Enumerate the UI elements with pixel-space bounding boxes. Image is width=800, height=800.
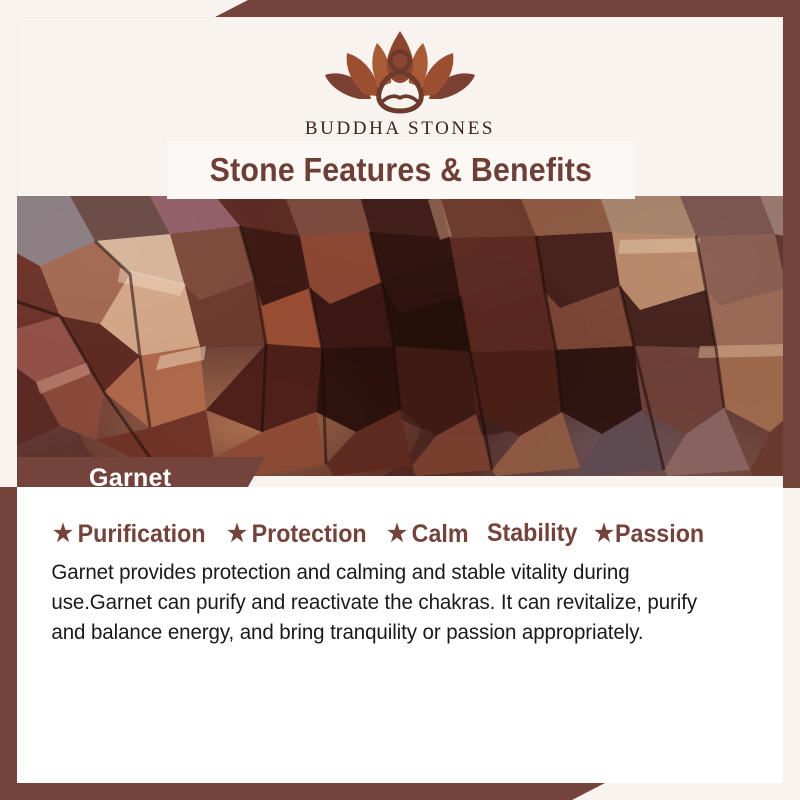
benefit-label: Protection (252, 520, 367, 549)
frame-band-top (215, 0, 800, 17)
stone-description: Garnet provides protection and calming a… (17, 549, 749, 647)
benefit-item: ★Purification (53, 520, 206, 549)
stone-info-card: BUDDHA STONES (0, 0, 800, 800)
star-icon: ★ (594, 522, 614, 546)
benefit-item: ★Protection (227, 520, 367, 549)
star-icon: ★ (53, 522, 73, 546)
benefit-label: Passion (615, 520, 704, 549)
star-icon: ★ (227, 522, 247, 546)
benefit-item: Stability (487, 519, 577, 548)
card-panel: BUDDHA STONES (17, 17, 783, 783)
benefits-row: ★Purification★Protection★CalmStability★P… (17, 487, 783, 549)
benefit-label: Purification (78, 520, 206, 549)
frame-band-right (783, 0, 800, 488)
title-banner: Stone Features & Benefits (167, 141, 635, 199)
stone-photo (17, 196, 783, 476)
brand-logo-block: BUDDHA STONES (17, 17, 783, 149)
frame-band-left (0, 487, 17, 783)
benefit-item: ★Passion (594, 520, 704, 549)
frame-band-bottom (0, 783, 605, 800)
benefit-item: ★Calm (387, 520, 469, 549)
benefit-label: Stability (487, 519, 577, 548)
brand-wordmark: BUDDHA STONES (305, 118, 495, 140)
lotus-meditation-figure-icon (315, 25, 485, 117)
page-title: Stone Features & Benefits (210, 151, 593, 189)
content-sheet: ★Purification★Protection★CalmStability★P… (17, 487, 783, 783)
star-icon: ★ (387, 522, 407, 546)
benefit-label: Calm (412, 520, 469, 549)
